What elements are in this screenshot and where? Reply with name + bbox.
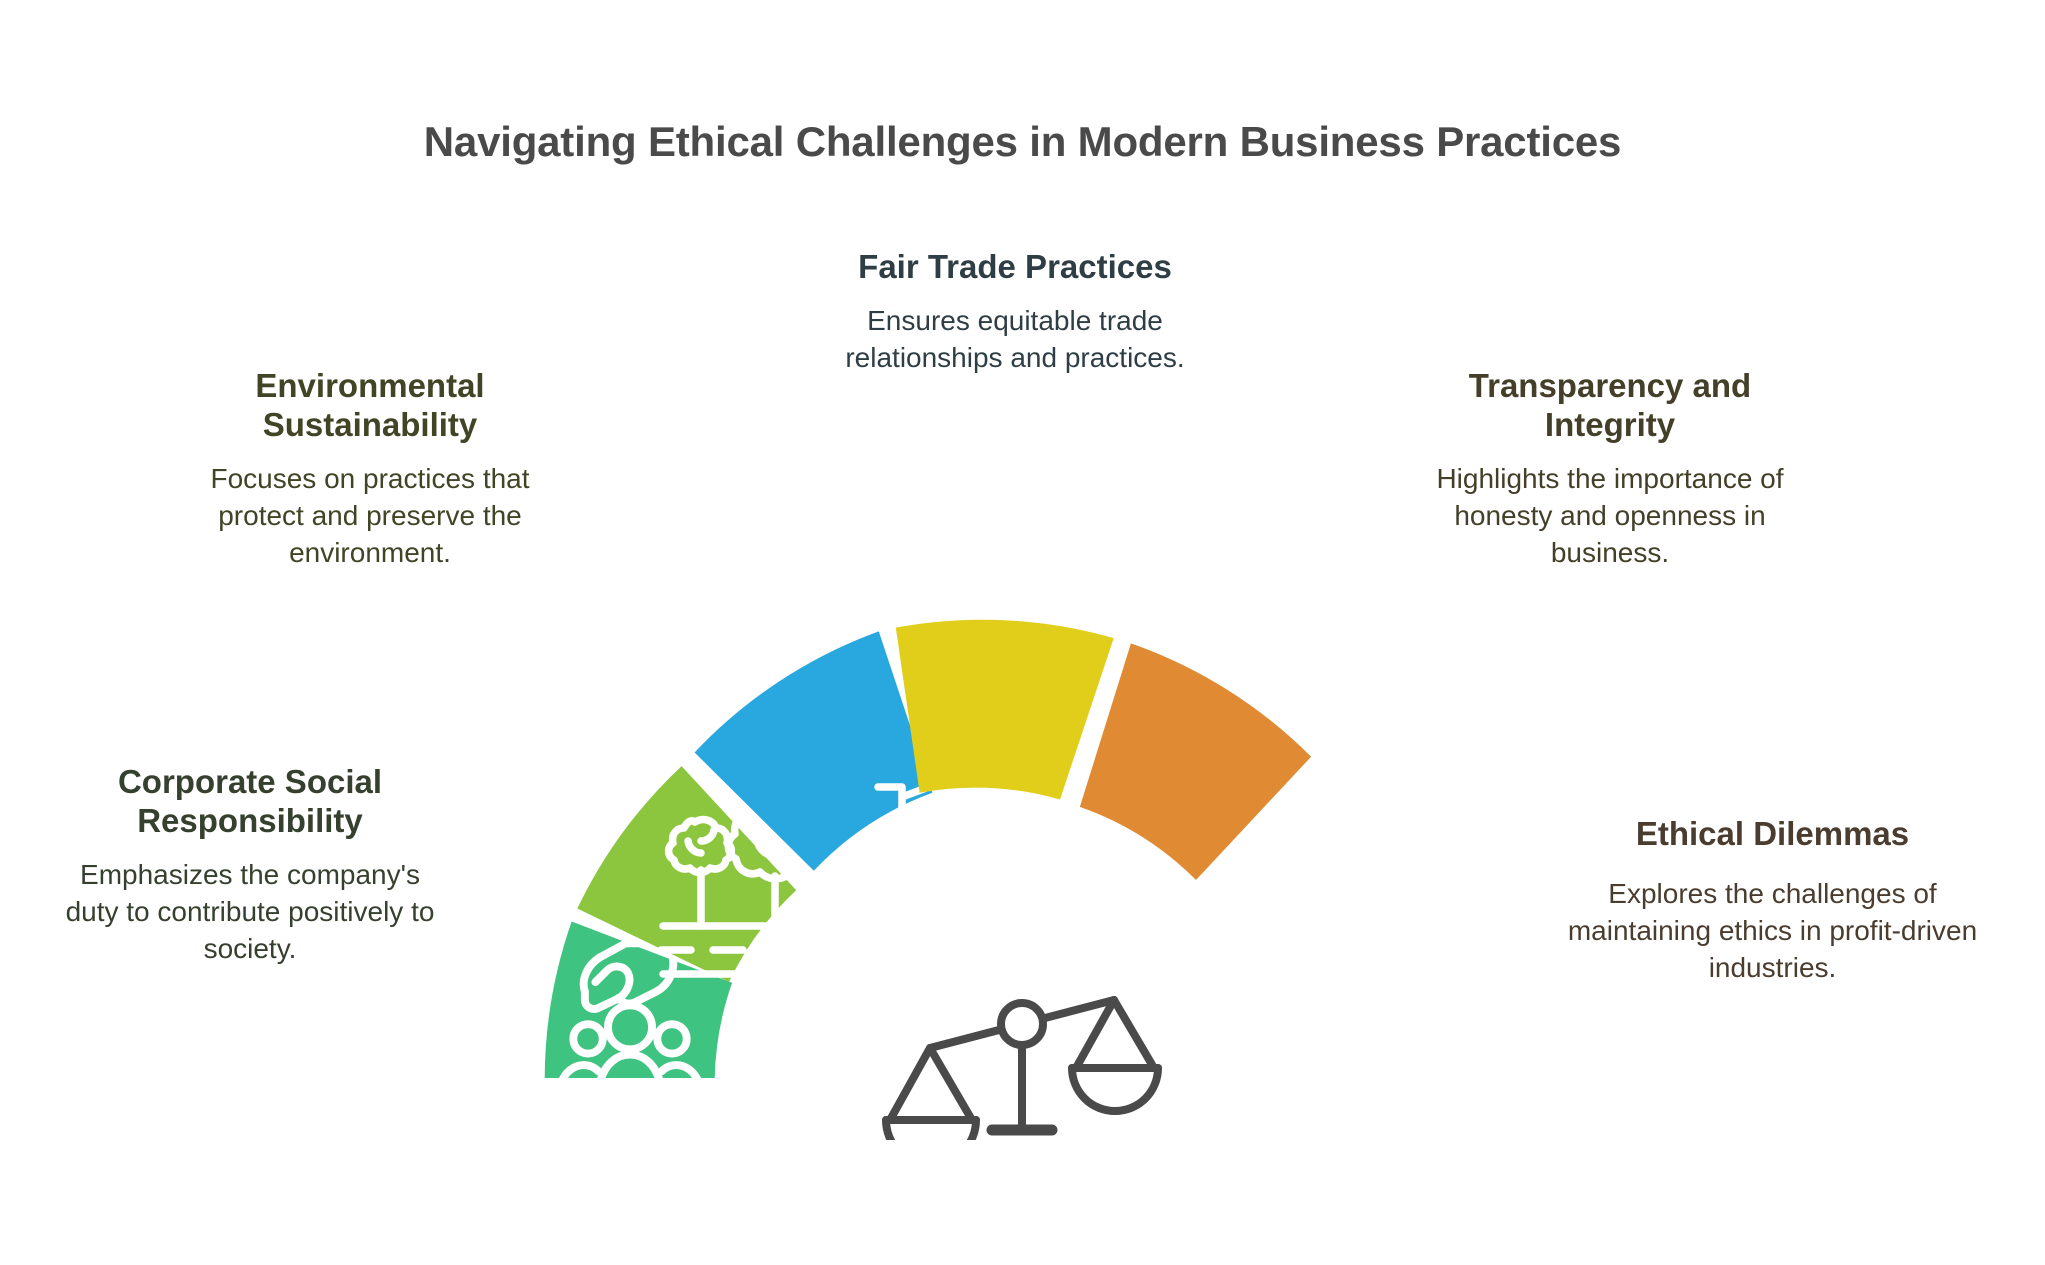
callout-ethical-dilemmas: Ethical Dilemmas Explores the challenges… xyxy=(1565,815,1980,987)
infographic-canvas: Navigating Ethical Challenges in Modern … xyxy=(0,0,2045,1265)
person-crossroads-strategy-icon xyxy=(1262,928,1398,1073)
callout-description-fair-trade: Ensures equitable trade relationships an… xyxy=(800,303,1230,377)
callout-environmental-sustainability: Environmental Sustainability Focuses on … xyxy=(190,367,550,572)
callout-description-ethical-dilemmas: Explores the challenges of maintaining e… xyxy=(1565,876,1980,987)
callout-title-transparency: Transparency and Integrity xyxy=(1400,367,1820,445)
page-title: Navigating Ethical Challenges in Modern … xyxy=(0,118,2045,166)
segment-ethical-dilemmas[interactable] xyxy=(1080,643,1398,1073)
scales-of-justice-icon xyxy=(886,1000,1158,1140)
callout-title-ethical-dilemmas: Ethical Dilemmas xyxy=(1565,815,1980,854)
callout-corporate-social-responsibility: Corporate Social Responsibility Emphasiz… xyxy=(50,763,450,968)
segment-ethical-dilemmas-wedge[interactable] xyxy=(1080,643,1311,880)
callout-title-csr: Corporate Social Responsibility xyxy=(50,763,450,841)
callout-title-fair-trade: Fair Trade Practices xyxy=(800,248,1230,287)
callout-fair-trade-practices: Fair Trade Practices Ensures equitable t… xyxy=(800,248,1230,377)
segment-transparency-wedge[interactable] xyxy=(896,620,1114,800)
segment-wheel xyxy=(544,600,1504,1140)
callout-transparency-and-integrity: Transparency and Integrity Highlights th… xyxy=(1400,367,1820,572)
callout-description-csr: Emphasizes the company's duty to contrib… xyxy=(50,857,450,968)
callout-title-environmental: Environmental Sustainability xyxy=(190,367,550,445)
callout-description-transparency: Highlights the importance of honesty and… xyxy=(1400,461,1820,572)
callout-description-environmental: Focuses on practices that protect and pr… xyxy=(190,461,550,572)
